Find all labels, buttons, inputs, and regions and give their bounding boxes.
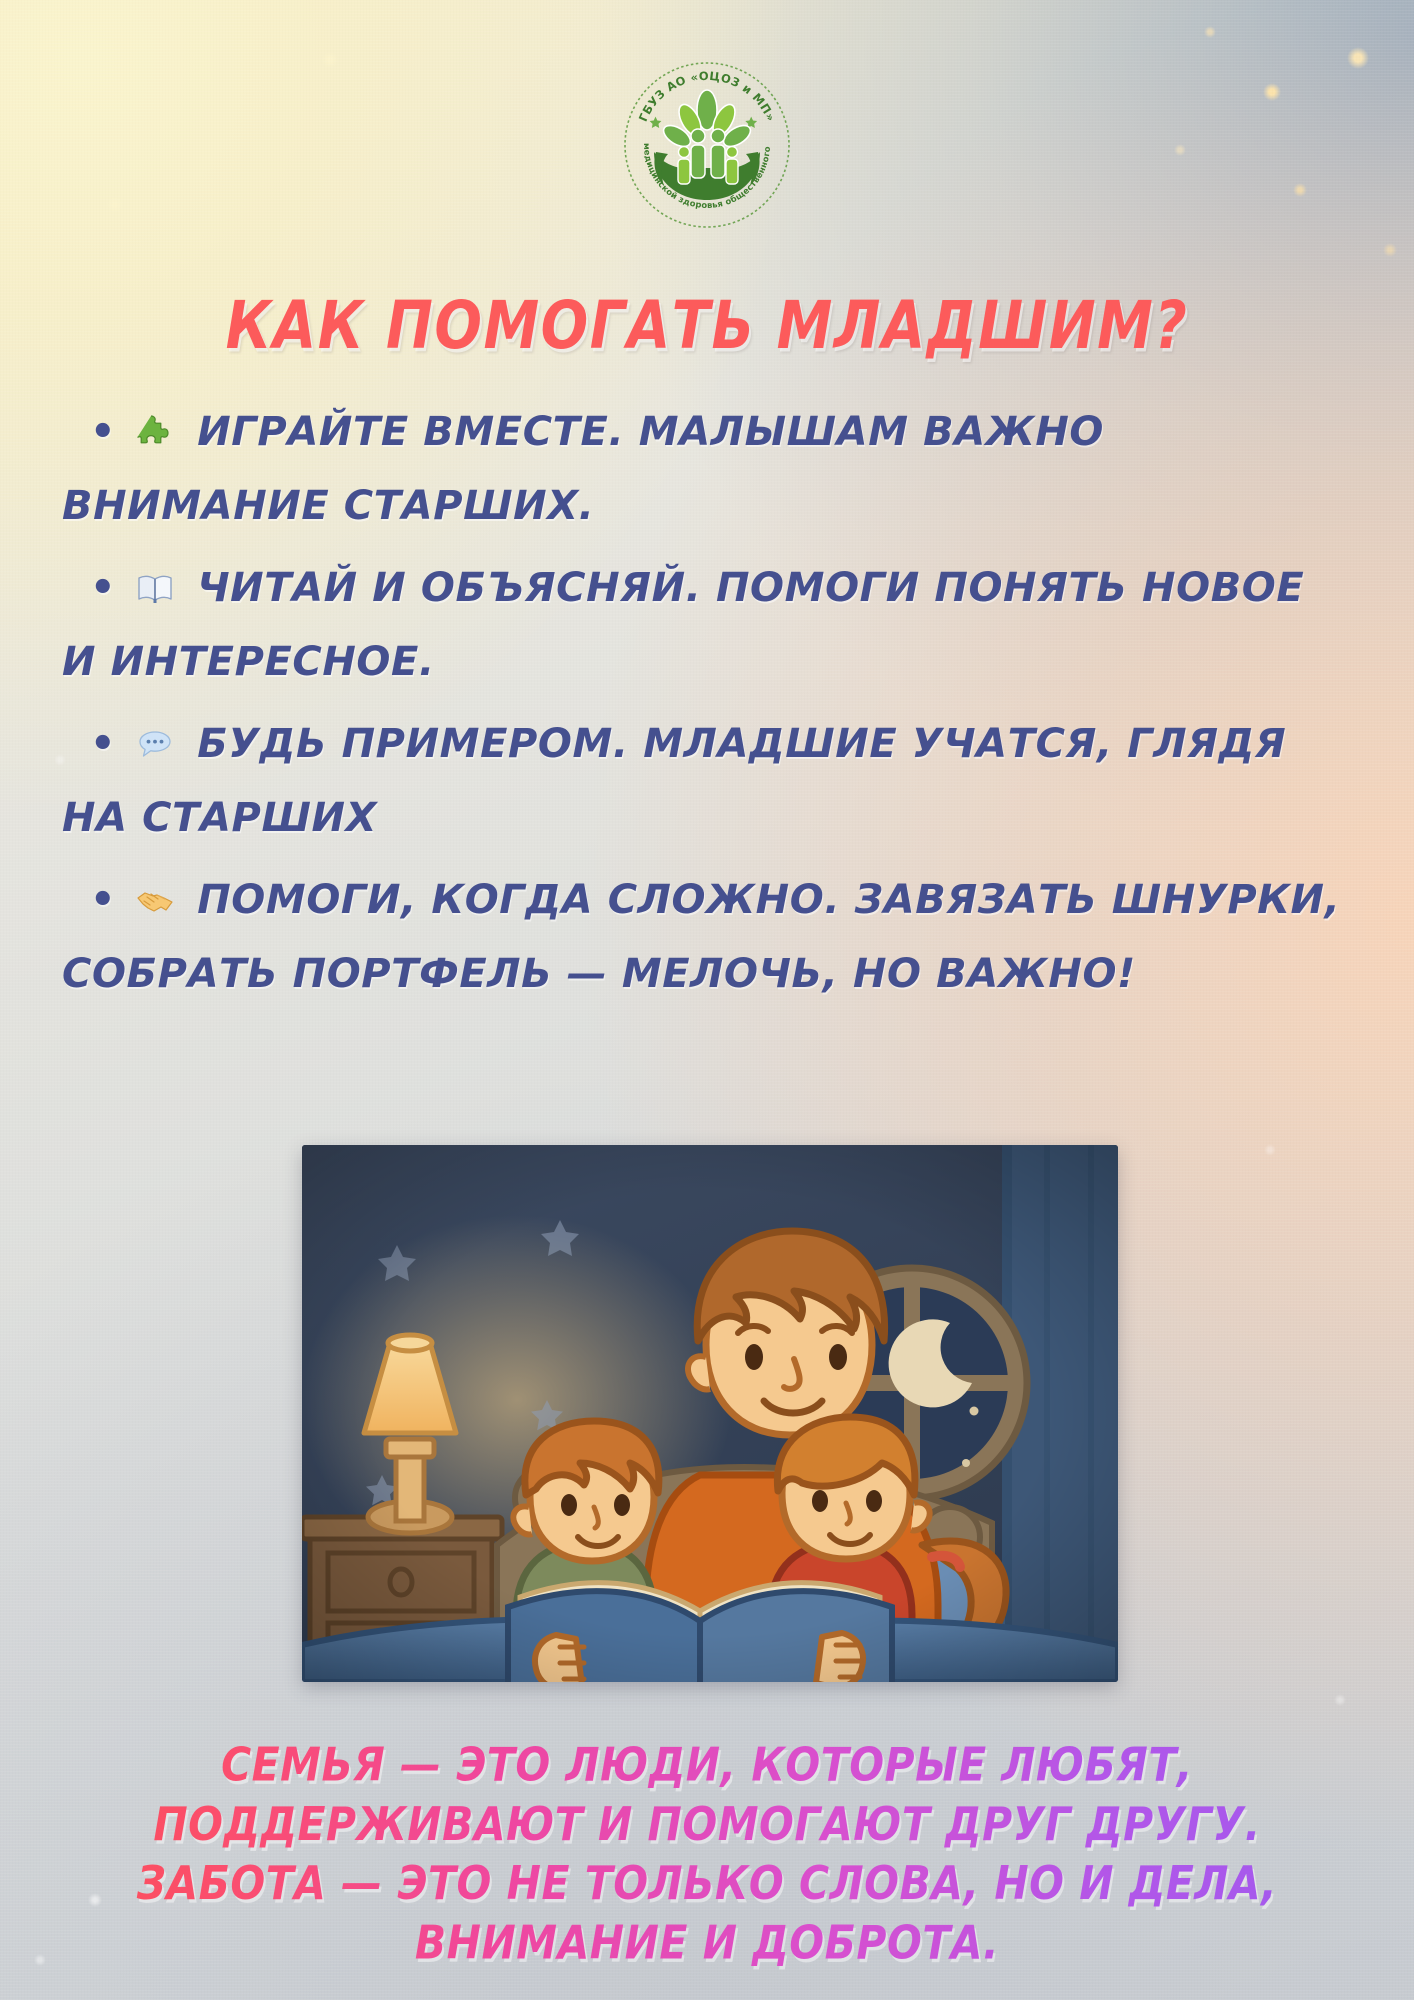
poster-canvas: ГБУЗ АО «ОЦОЗ и МП» профилактики и медиц… (0, 0, 1414, 2000)
footer-line: ВНИМАНИЕ И ДОБРОТА. (0, 1913, 1414, 1972)
footer-line: ПОДДЕРЖИВАЮТ И ПОМОГАЮТ ДРУГ ДРУГУ. (0, 1794, 1414, 1853)
list-item-text: ПОМОГИ, КОГДА СЛОЖНО. ЗАВЯЗАТЬ ШНУРКИ, С… (62, 877, 1340, 997)
puzzle-piece-icon (135, 412, 175, 452)
list-item-text: БУДЬ ПРИМЕРОМ. МЛАДШИЕ УЧАТСЯ, ГЛЯДЯ НА … (62, 721, 1286, 841)
bullet-marker: • (76, 707, 116, 781)
list-item-text: ИГРАЙТЕ ВМЕСТЕ. МАЛЫШАМ ВАЖНО ВНИМАНИЕ С… (62, 409, 1104, 529)
list-item: • ПОМОГИ, КОГДА СЛОЖНО. ЗАВЯЗАТЬ ШНУРКИ,… (62, 863, 1352, 1011)
list-item-text: ЧИТАЙ И ОБЪЯСНЯЙ. ПОМОГИ ПОНЯТЬ НОВОЕ И … (62, 565, 1304, 685)
tips-list: • ИГРАЙТЕ ВМЕСТЕ. МАЛЫШАМ ВАЖНО ВНИМАНИЕ… (62, 395, 1352, 1019)
organization-logo: ГБУЗ АО «ОЦОЗ и МП» профилактики и медиц… (622, 60, 792, 230)
handshake-icon (135, 880, 175, 920)
bullet-marker: • (76, 863, 116, 937)
open-book-icon (135, 568, 175, 608)
logo-container: ГБУЗ АО «ОЦОЗ и МП» профилактики и медиц… (0, 60, 1414, 230)
bullet-marker: • (76, 395, 116, 469)
footer-line: СЕМЬЯ — ЭТО ЛЮДИ, КОТОРЫЕ ЛЮБЯТ, (0, 1735, 1414, 1794)
bullet-marker: • (76, 551, 116, 625)
page-title: КАК ПОМОГАТЬ МЛАДШИМ? (0, 288, 1414, 365)
speech-balloon-icon (135, 724, 175, 764)
list-item: • ИГРАЙТЕ ВМЕСТЕ. МАЛЫШАМ ВАЖНО ВНИМАНИЕ… (62, 395, 1352, 543)
list-item: • ЧИТАЙ И ОБЪЯСНЯЙ. ПОМОГИ ПОНЯТЬ НОВОЕ … (62, 551, 1352, 699)
bedtime-reading-illustration (302, 1145, 1118, 1682)
footer-line: ЗАБОТА — ЭТО НЕ ТОЛЬКО СЛОВА, НО И ДЕЛА, (0, 1854, 1414, 1913)
footer-message: СЕМЬЯ — ЭТО ЛЮДИ, КОТОРЫЕ ЛЮБЯТ, ПОДДЕРЖ… (0, 1735, 1414, 1972)
list-item: • БУДЬ ПРИМЕРОМ. МЛАДШИЕ УЧАТСЯ, ГЛЯДЯ Н… (62, 707, 1352, 855)
